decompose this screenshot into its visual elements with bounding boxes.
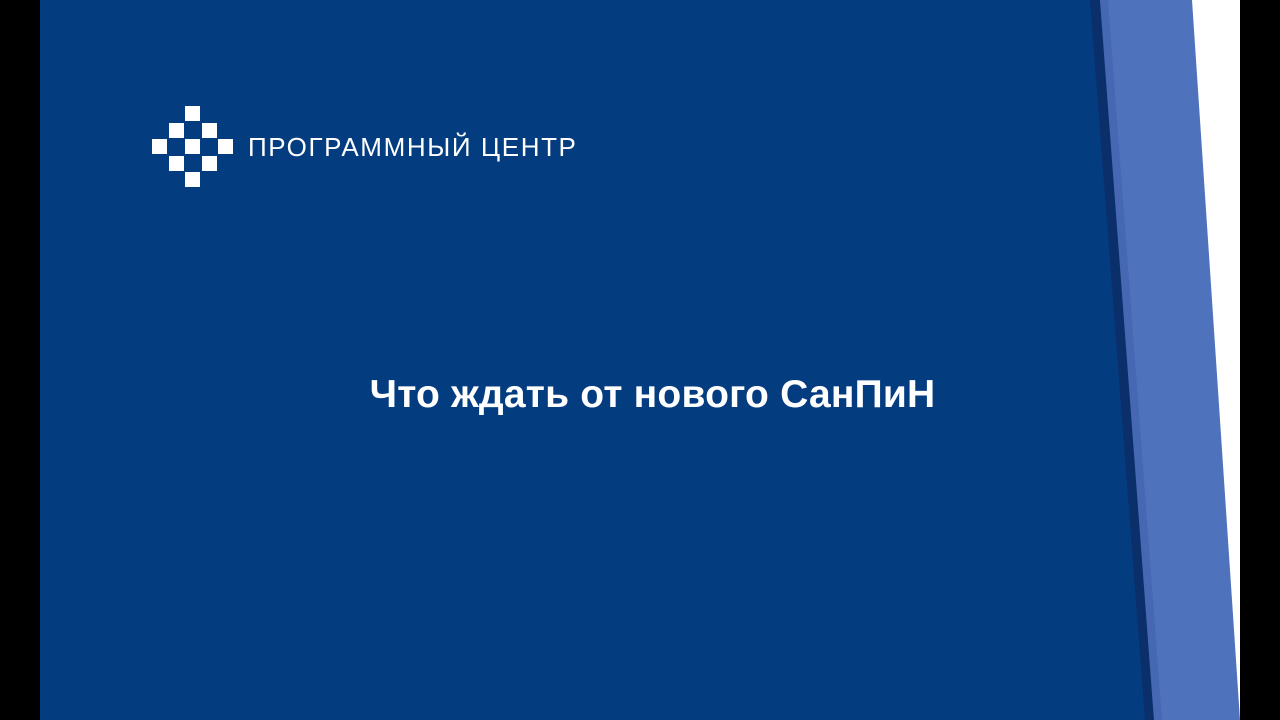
logo-cell xyxy=(185,172,200,187)
logo-cell xyxy=(169,123,184,138)
logo-cell xyxy=(152,139,167,154)
logo-cell xyxy=(202,156,217,171)
checkerboard-diamond-icon xyxy=(152,106,230,188)
letterbox-bar-right xyxy=(1240,0,1280,720)
presentation-slide: ПРОГРАММНЫЙ ЦЕНТР Что ждать от нового Са… xyxy=(0,0,1280,720)
brand-logo: ПРОГРАММНЫЙ ЦЕНТР xyxy=(152,106,578,188)
slide-canvas: ПРОГРАММНЫЙ ЦЕНТР Что ждать от нового Са… xyxy=(40,0,1240,720)
logo-cell xyxy=(218,139,233,154)
logo-cell xyxy=(169,156,184,171)
logo-cell xyxy=(185,139,200,154)
logo-cell xyxy=(185,106,200,121)
page-title: Что ждать от нового СанПиН xyxy=(40,372,1240,419)
letterbox-bar-left xyxy=(0,0,40,720)
logo-cell xyxy=(202,123,217,138)
brand-wordmark: ПРОГРАММНЫЙ ЦЕНТР xyxy=(248,134,578,160)
